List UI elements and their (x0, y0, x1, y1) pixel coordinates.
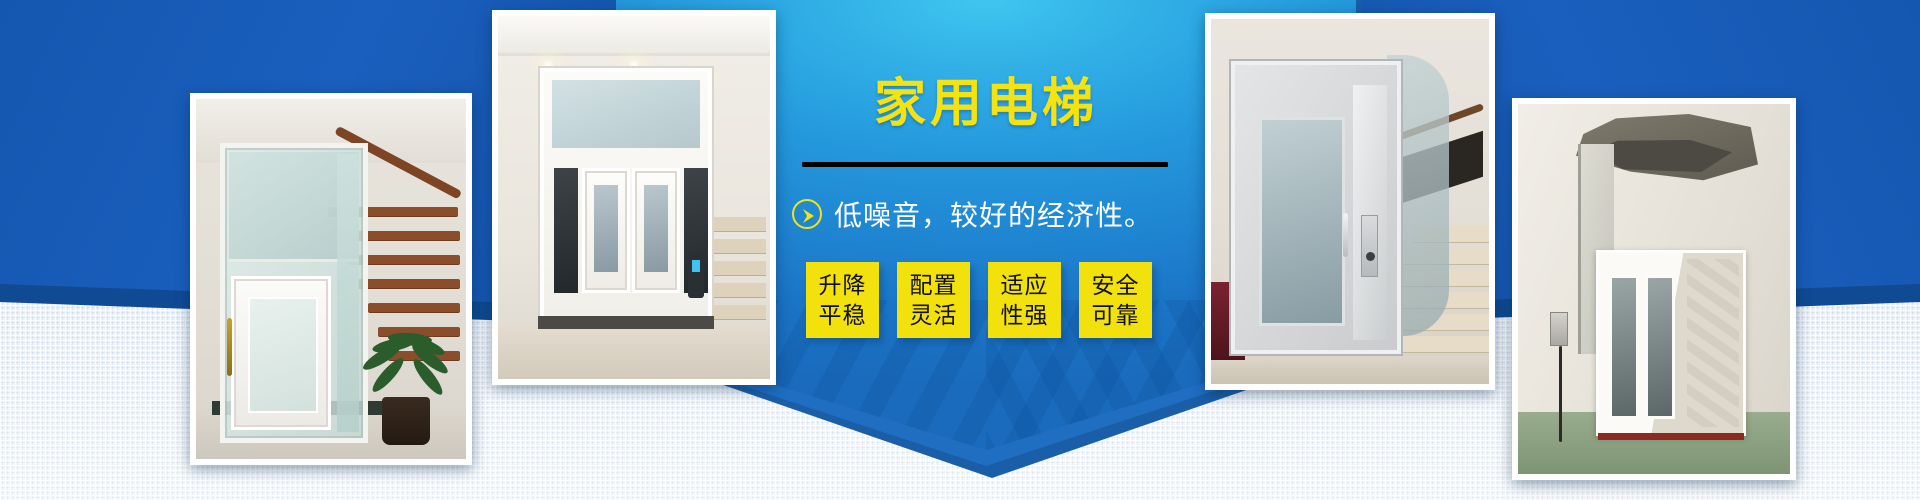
feature-tag[interactable]: 升降 平稳 (806, 262, 879, 338)
potted-plant-graphic (360, 325, 452, 445)
photo-4-artwork (1518, 104, 1790, 474)
home-elevator-banner: 家用电梯 低噪音，较好的经济性。 升降 平稳 配置 灵活 适应 性强 (0, 0, 1920, 500)
photo-4-inner (1518, 104, 1790, 474)
feature-tag-list: 升降 平稳 配置 灵活 适应 性强 安全 可靠 (806, 262, 1152, 338)
feature-tag[interactable]: 配置 灵活 (897, 262, 970, 338)
feature-tag-line2: 性强 (1001, 300, 1049, 330)
subtitle-row: 低噪音，较好的经济性。 (792, 192, 1352, 236)
subtitle-text: 低噪音，较好的经济性。 (834, 194, 1153, 234)
photo-glass-home-elevator-with-staircase[interactable] (190, 93, 472, 465)
feature-tag-line2: 可靠 (1092, 300, 1140, 330)
banner-content: 家用电梯 低噪音，较好的经济性。 升降 平稳 配置 灵活 适应 性强 (616, 0, 1356, 450)
page-title: 家用电梯 (616, 76, 1356, 132)
feature-tag-line1: 适应 (1001, 270, 1049, 300)
feature-tag[interactable]: 适应 性强 (988, 262, 1061, 338)
feature-tag-line1: 升降 (819, 270, 867, 300)
feature-tag-line1: 配置 (910, 270, 958, 300)
feature-tag-line2: 平稳 (819, 300, 867, 330)
feature-tag-line1: 安全 (1092, 270, 1140, 300)
photo-1-artwork (196, 99, 466, 459)
title-divider (802, 162, 1168, 167)
feature-tag[interactable]: 安全 可靠 (1079, 262, 1152, 338)
photo-elevator-installation-wrapped[interactable] (1512, 98, 1796, 480)
photo-1-inner (196, 99, 466, 459)
feature-tag-line2: 灵活 (910, 300, 958, 330)
circled-arrow-right-icon (792, 199, 822, 229)
